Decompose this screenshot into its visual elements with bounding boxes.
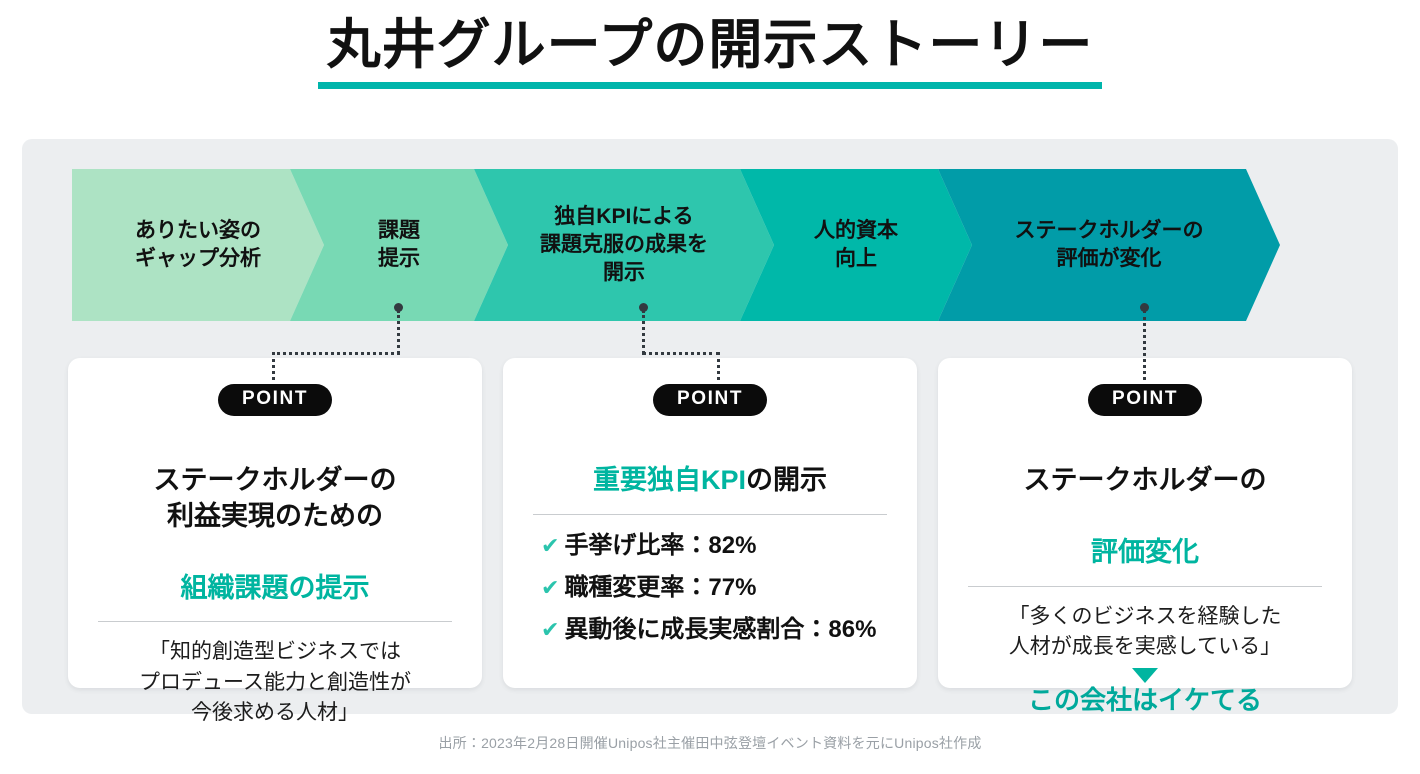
card-3-conclusion: この会社はイケてる [960, 685, 1330, 716]
flow-step-4[interactable]: 人的資本 向上 [740, 169, 972, 321]
card-1-heading: ステークホルダーの 利益実現のための 組織課題の提示 [90, 427, 460, 607]
flow-step-5[interactable]: ステークホルダーの 評価が変化 [938, 169, 1280, 321]
title-underline [318, 82, 1102, 89]
card-2-divider [533, 514, 887, 515]
page-title-block: 丸井グループの開示ストーリー [0, 14, 1420, 89]
card-3-heading-plain: ステークホルダーの [1024, 465, 1267, 495]
check-icon: ✔ [541, 618, 559, 642]
flow-step-4-label: 人的資本 向上 [808, 217, 904, 272]
point-cards: POINT ステークホルダーの 利益実現のための 組織課題の提示 「知的創造型ビ… [68, 358, 1352, 688]
point-card-3[interactable]: POINT ステークホルダーの 評価変化 「多くのビジネスを経験した 人材が成長… [938, 358, 1352, 688]
flow-step-5-label: ステークホルダーの 評価が変化 [1009, 217, 1210, 272]
check-icon: ✔ [541, 576, 559, 600]
card-2-heading-plain: の開示 [746, 465, 827, 495]
flow-step-1-label: ありたい姿の ギャップ分析 [129, 217, 267, 272]
process-flow: ありたい姿の ギャップ分析 課題 提示 独自KPIによる 課題克服の成果を 開示… [72, 169, 1348, 321]
card-1-body: 「知的創造型ビジネスでは プロデュース能力と創造性が 今後求める人材」 [90, 637, 460, 728]
kpi-item-label: 異動後に成長実感割合：86% [564, 617, 876, 643]
flow-step-3-label: 独自KPIによる 課題克服の成果を 開示 [534, 203, 714, 286]
card-1-heading-plain: ステークホルダーの 利益実現のための [154, 465, 397, 531]
point-badge: POINT [1088, 384, 1202, 416]
flow-step-2-label: 課題 提示 [372, 217, 426, 272]
kpi-item: ✔ 職種変更率：77% [541, 575, 895, 601]
point-card-1[interactable]: POINT ステークホルダーの 利益実現のための 組織課題の提示 「知的創造型ビ… [68, 358, 482, 688]
card-2-heading: 重要独自KPIの開示 [525, 427, 895, 499]
page-title: 丸井グループの開示ストーリー [321, 14, 1100, 76]
check-icon: ✔ [541, 534, 559, 558]
flow-step-3[interactable]: 独自KPIによる 課題克服の成果を 開示 [474, 169, 774, 321]
kpi-item: ✔ 異動後に成長実感割合：86% [541, 617, 895, 643]
source-note: 出所：2023年2月28日開催Unipos社主催田中弦登壇イベント資料を元にUn… [0, 733, 1420, 753]
flow-step-1[interactable]: ありたい姿の ギャップ分析 [72, 169, 324, 321]
kpi-item-label: 職種変更率：77% [564, 575, 756, 601]
card-1-heading-accent: 組織課題の提示 [181, 573, 370, 603]
kpi-item-label: 手挙げ比率：82% [564, 533, 756, 559]
card-3-divider [968, 586, 1322, 587]
triangle-down-icon [1132, 668, 1158, 683]
kpi-list: ✔ 手挙げ比率：82% ✔ 職種変更率：77% ✔ 異動後に成長実感割合：86% [525, 533, 895, 644]
card-3-body: 「多くのビジネスを経験した 人材が成長を実感している」 [960, 602, 1330, 663]
card-3-heading-accent: 評価変化 [1091, 537, 1199, 567]
kpi-item: ✔ 手挙げ比率：82% [541, 533, 895, 559]
point-card-2[interactable]: POINT 重要独自KPIの開示 ✔ 手挙げ比率：82% ✔ 職種変更率：77%… [503, 358, 917, 688]
point-badge: POINT [653, 384, 767, 416]
card-2-heading-accent: 重要独自KPI [593, 465, 746, 495]
point-badge: POINT [218, 384, 332, 416]
card-3-heading: ステークホルダーの 評価変化 [960, 427, 1330, 571]
card-1-divider [98, 621, 452, 622]
